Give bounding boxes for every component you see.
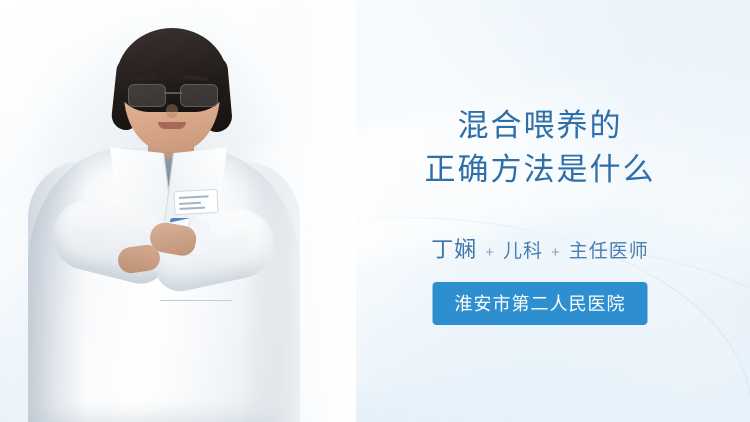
credit-separator-2: + [551, 244, 561, 261]
id-badge [173, 189, 218, 215]
doctor-rank: 主任医师 [569, 236, 649, 263]
thumbnail-canvas: 混合喂养的 正确方法是什么 丁娴 + 儿科 + 主任医师 淮安市第二人民医院 [0, 0, 750, 422]
id-badge-line-3 [179, 207, 205, 210]
credit-separator-1: + [485, 244, 495, 261]
nose [166, 104, 178, 118]
doctor-department: 儿科 [503, 236, 543, 263]
id-badge-line-2 [179, 202, 201, 205]
text-panel: 混合喂养的 正确方法是什么 丁娴 + 儿科 + 主任医师 淮安市第二人民医院 [330, 0, 750, 422]
glasses-lens-left [128, 84, 166, 107]
glasses-lens-right [180, 84, 218, 107]
doctor-name: 丁娴 [431, 232, 477, 264]
doctor-credits: 丁娴 + 儿科 + 主任医师 [330, 232, 750, 264]
id-badge-line-1 [179, 195, 209, 199]
glasses-icon [128, 84, 218, 106]
coat-pocket-seam [160, 300, 232, 301]
doctor-portrait [0, 0, 330, 422]
mouth [158, 122, 186, 129]
hospital-badge: 淮安市第二人民医院 [433, 282, 648, 325]
lab-coat-shade-left [28, 160, 86, 422]
video-title: 混合喂养的 正确方法是什么 [330, 104, 750, 192]
